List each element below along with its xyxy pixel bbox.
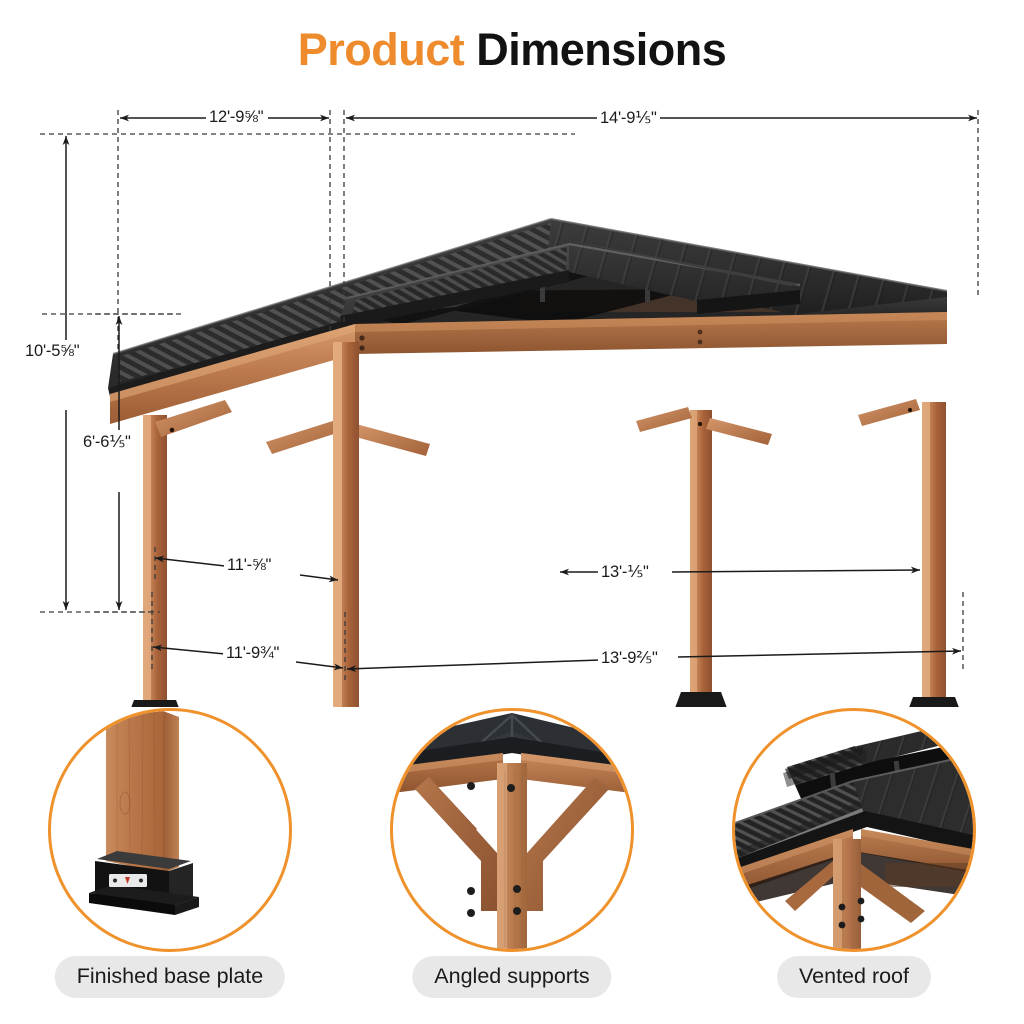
feature-label-angled-supports: Angled supports xyxy=(412,956,611,998)
brace-center-right xyxy=(352,424,430,456)
bolt xyxy=(513,885,521,893)
feature-callouts: Finished base plate xyxy=(0,706,1024,1024)
brace-back-right xyxy=(706,418,772,445)
bolt xyxy=(839,922,846,929)
feature-label-vented-roof: Vented roof xyxy=(777,956,931,998)
dim-label-post-height: 6'-6⅕" xyxy=(80,432,134,452)
feature-angled-supports: Angled supports xyxy=(362,706,662,1024)
bolt xyxy=(513,907,521,915)
dim-label-roof-top-left: 12'-9⅝" xyxy=(206,108,266,127)
post-front-center-top xyxy=(333,342,359,452)
post-front-right xyxy=(907,402,961,707)
dim-label-post-spacing-right: 13'-⅕" xyxy=(598,562,652,582)
gazebo-illustration xyxy=(108,219,961,707)
dim-label-post-spacing-left: 11'-⅝" xyxy=(224,556,274,575)
bolt xyxy=(858,898,865,905)
dim-label-roof-top-right: 14'-9⅕" xyxy=(597,108,660,128)
dimension-diagram: 12'-9⅝" 14'-9⅕" 10'-5⅝" 6'-6⅕" 11'-⅝" 13… xyxy=(0,92,1024,707)
brace-back-left xyxy=(636,407,692,432)
post-side-face xyxy=(163,711,179,873)
brace-center-left xyxy=(266,420,340,454)
bolt xyxy=(858,916,865,923)
title-word-product: Product xyxy=(298,24,465,75)
bolt xyxy=(839,904,846,911)
bolt xyxy=(467,782,475,790)
dim-label-base-left: 11'-9¾" xyxy=(223,644,282,663)
post-back xyxy=(675,410,727,707)
dim-label-base-right: 13'-9⅖" xyxy=(598,648,661,668)
feature-label-base-plate: Finished base plate xyxy=(55,956,285,998)
bolt xyxy=(467,909,475,917)
dim-label-total-height: 10'-5⅝" xyxy=(22,342,82,361)
feature-base-plate: Finished base plate xyxy=(20,706,320,1024)
product-dimensions-infographic: Product Dimensions xyxy=(0,0,1024,1024)
page-title: Product Dimensions xyxy=(0,24,1024,76)
post-front-center xyxy=(317,422,375,707)
base-plate-back xyxy=(675,692,727,707)
feature-vented-roof: Vented roof xyxy=(704,706,1004,1024)
bolt xyxy=(507,784,515,792)
title-word-dimensions: Dimensions xyxy=(464,24,726,75)
bolt xyxy=(467,887,475,895)
brace-right-a xyxy=(858,399,920,426)
